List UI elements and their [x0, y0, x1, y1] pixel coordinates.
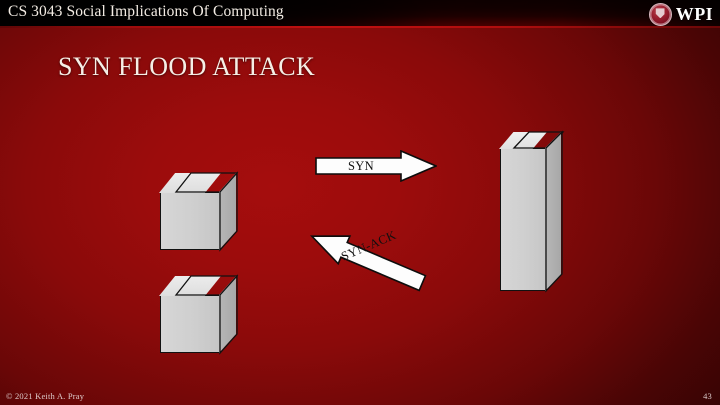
cube-side-outline — [218, 274, 240, 356]
header-divider-rule — [0, 26, 720, 28]
slide-canvas: CS 3043 Social Implications Of Computing… — [0, 0, 720, 405]
page-number: 43 — [703, 391, 712, 401]
tower-front-face — [500, 148, 546, 291]
cube-side-outline — [218, 171, 240, 253]
client-cube-bottom — [160, 295, 220, 353]
copyright-notice: © 2021 Keith A. Pray — [6, 391, 84, 401]
wpi-wordmark: WPI — [676, 5, 713, 23]
syn-arrow-label: SYN — [315, 150, 407, 182]
cube-front-face — [160, 295, 220, 353]
tower-side-outline — [544, 130, 566, 296]
wpi-logo: WPI — [649, 2, 713, 26]
client-cube-top — [160, 192, 220, 250]
server-tower — [500, 148, 546, 291]
page-title: SYN FLOOD ATTACK — [58, 52, 315, 82]
synack-arrow: SYN-ACK — [308, 228, 428, 292]
wpi-seal-icon — [649, 3, 672, 26]
course-title: CS 3043 Social Implications Of Computing — [8, 3, 284, 21]
slide-header-bar: CS 3043 Social Implications Of Computing… — [0, 0, 720, 28]
cube-front-face — [160, 192, 220, 250]
syn-arrow: SYN — [315, 150, 437, 182]
